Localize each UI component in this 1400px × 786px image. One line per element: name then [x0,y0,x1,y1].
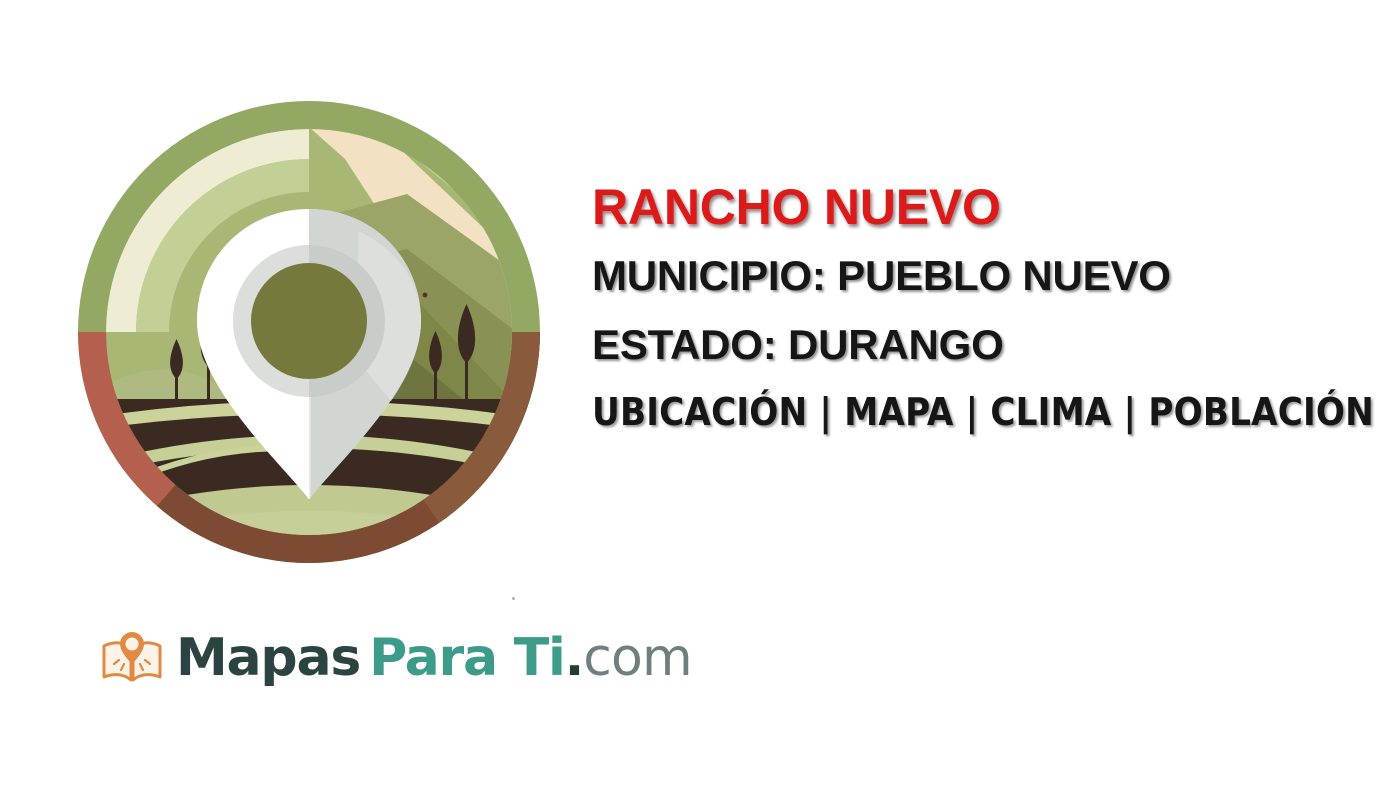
stray-speck [512,597,515,600]
logo-wordmark: Mapas Para Ti . com [176,630,692,686]
logo-part-mapas: Mapas [176,630,360,686]
poster-canvas: RANCHO NUEVO MUNICIPIO: PUEBLO NUEVO EST… [0,0,1400,786]
dust-speck [423,293,428,298]
place-info-block: RANCHO NUEVO MUNICIPIO: PUEBLO NUEVO EST… [592,176,1392,437]
logo-part-dot: . [565,630,584,686]
open-book-with-map-pin-icon [100,626,164,690]
logo-part-parati: Para Ti [369,630,565,686]
municipio-line: MUNICIPIO: PUEBLO NUEVO [592,248,1392,304]
page-title: RANCHO NUEVO [592,176,1392,238]
site-logo[interactable]: Mapas Para Ti . com [100,616,692,700]
badge-illustration [77,99,541,565]
logo-part-com: com [583,630,692,686]
section-links-line[interactable]: UBICACIÓN | MAPA | CLIMA | POBLACIÓN [592,387,1392,437]
rural-landscape-map-pin-badge [77,99,541,565]
estado-line: ESTADO: DURANGO [592,317,1392,373]
